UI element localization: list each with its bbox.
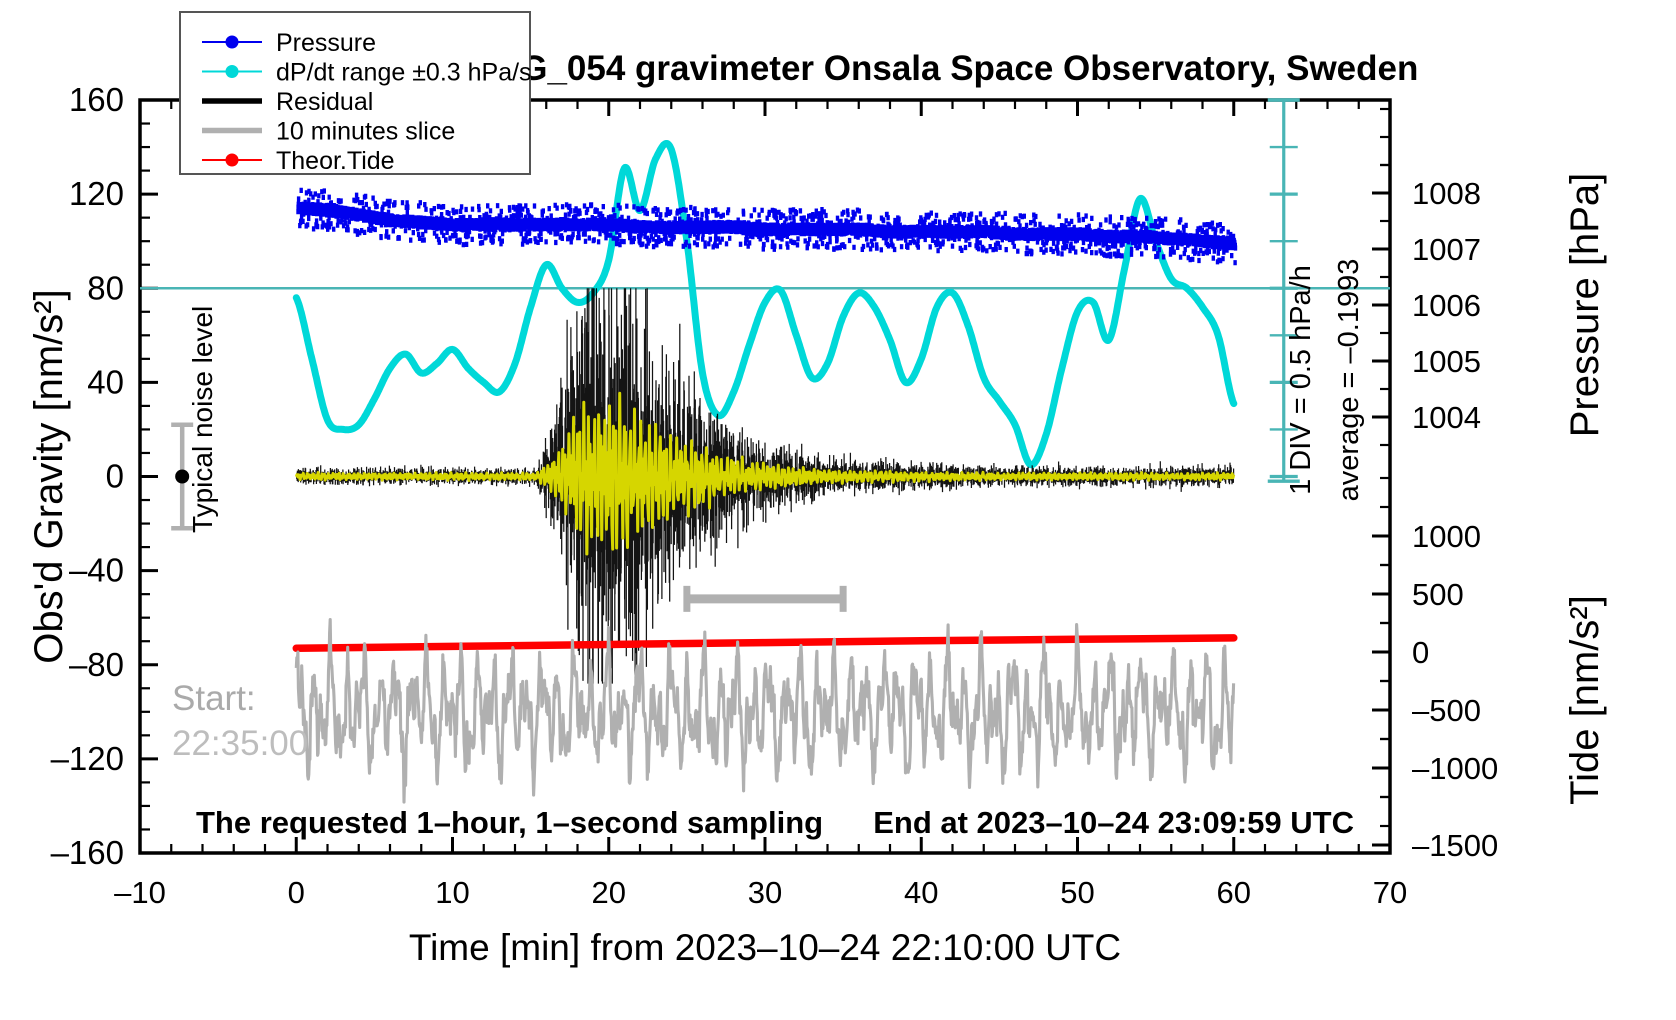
div-scale-annotation: 1 DIV = 0.5 hPa/h xyxy=(1285,265,1317,495)
yaxis-tide-tick-label: –500 xyxy=(1412,693,1481,728)
chart-title: SCG_054 gravimeter Onsala Space Observat… xyxy=(472,49,1419,88)
yaxis-left-tick-label: 160 xyxy=(69,81,124,118)
theoretical-tide-curve xyxy=(296,638,1234,648)
xaxis-label: Time [min] from 2023–10–24 22:10:00 UTC xyxy=(409,927,1121,968)
chart-canvas: –10010203040506070Time [min] from 2023–1… xyxy=(0,0,1676,1020)
yaxis-pressure-tick-label: 1005 xyxy=(1412,344,1481,379)
yaxis-pressure-label: Pressure [hPa] xyxy=(1563,173,1607,438)
yaxis-left-tick-label: –80 xyxy=(69,646,124,683)
yaxis-left-tick-label: –160 xyxy=(51,834,124,871)
end-note: End at 2023–10–24 23:09:59 UTC xyxy=(873,805,1354,840)
dpdt-curve xyxy=(296,144,1234,465)
yaxis-pressure-tick-label: 1007 xyxy=(1412,232,1481,267)
sampling-note: The requested 1–hour, 1–second sampling xyxy=(196,805,823,840)
noise-level-annotation: Typical noise level xyxy=(187,306,218,533)
yaxis-pressure-tick-label: 1008 xyxy=(1412,176,1481,211)
yaxis-tide-label: Tide [nm/s²] xyxy=(1563,595,1607,805)
yaxis-tide-tick-label: –1500 xyxy=(1412,828,1498,863)
xaxis-tick-label: 60 xyxy=(1217,875,1251,910)
xaxis-tick-label: 20 xyxy=(592,875,626,910)
chart-figure: –10010203040506070Time [min] from 2023–1… xyxy=(0,0,1676,1020)
yaxis-tide-tick-label: 1000 xyxy=(1412,519,1481,554)
yaxis-left-tick-label: –120 xyxy=(51,740,124,777)
yaxis-pressure-tick-label: 1004 xyxy=(1412,400,1481,435)
legend-marker-0 xyxy=(226,36,239,49)
xaxis-tick-label: 30 xyxy=(748,875,782,910)
yaxis-left-tick-label: 120 xyxy=(69,175,124,212)
legend-label-2: Residual xyxy=(276,88,373,116)
yaxis-left-tick-label: 80 xyxy=(87,269,124,306)
yaxis-left-label: Obs'd Gravity [nm/s²] xyxy=(27,289,71,663)
xaxis-tick-label: 50 xyxy=(1060,875,1094,910)
xaxis-tick-label: 70 xyxy=(1373,875,1407,910)
yaxis-tide-tick-label: 500 xyxy=(1412,577,1464,612)
xaxis-tick-label: 10 xyxy=(435,875,469,910)
pressure-scatter xyxy=(296,190,1237,262)
legend-label-4: Theor.Tide xyxy=(276,147,395,175)
legend-label-1: dP/dt range ±0.3 hPa/s xyxy=(276,59,532,87)
start-label: Start: xyxy=(172,679,256,718)
yaxis-tide-tick-label: –1000 xyxy=(1412,751,1498,786)
yaxis-left-tick-label: –40 xyxy=(69,552,124,589)
legend-marker-1 xyxy=(226,65,239,78)
yaxis-left-tick-label: 40 xyxy=(87,363,124,400)
legend-marker-4 xyxy=(226,154,239,167)
start-time-label: 22:35:00 xyxy=(172,724,308,763)
xaxis-tick-label: –10 xyxy=(114,875,166,910)
legend-label-0: Pressure xyxy=(276,29,376,57)
xaxis-tick-label: 40 xyxy=(904,875,938,910)
residual-trace xyxy=(296,288,1233,683)
yaxis-left-tick-label: 0 xyxy=(106,458,124,495)
xaxis-tick-label: 0 xyxy=(288,875,305,910)
yaxis-tide-tick-label: 0 xyxy=(1412,635,1429,670)
legend-label-3: 10 minutes slice xyxy=(276,118,455,146)
average-annotation: average = –0.1993 xyxy=(1333,259,1365,502)
yaxis-pressure-tick-label: 1006 xyxy=(1412,288,1481,323)
